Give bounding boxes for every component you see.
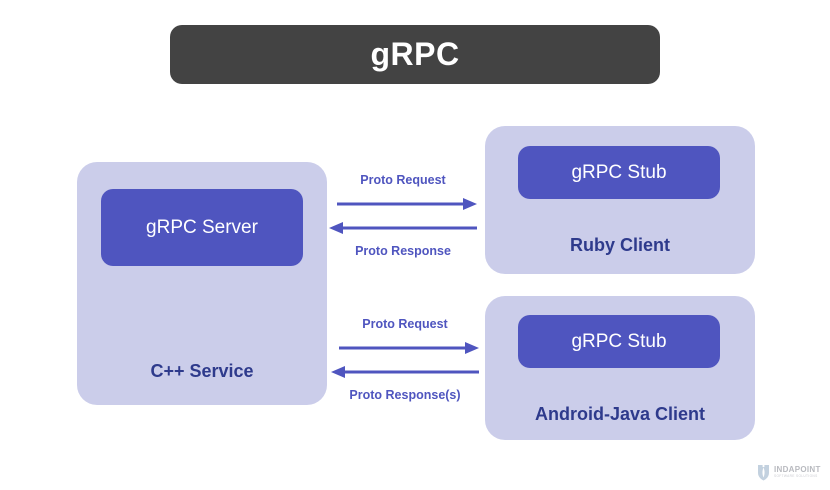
- android-client-caption: Android-Java Client: [485, 404, 755, 425]
- ruby-client-caption: Ruby Client: [485, 235, 755, 256]
- diagram-canvas: gRPC gRPC Server C++ Service gRPC Stub R…: [0, 0, 830, 490]
- android-grpc-stub-label: gRPC Stub: [571, 331, 666, 353]
- diagram-title-banner: gRPC: [170, 25, 660, 84]
- grpc-server-box: gRPC Server: [101, 189, 303, 266]
- connection-android-arrows: Proto Request Proto Response(s): [325, 316, 485, 403]
- android-arrow-pair-icon: [325, 339, 485, 381]
- ruby-arrow-pair-icon: [323, 195, 483, 237]
- android-grpc-stub-box: gRPC Stub: [518, 315, 720, 368]
- ruby-proto-request-label: Proto Request: [323, 172, 483, 188]
- android-proto-request-label: Proto Request: [325, 316, 485, 332]
- watermark: INDAPOINT SOFTWARE SOLUTIONS: [756, 461, 826, 483]
- indapoint-logo-icon: [756, 463, 771, 482]
- connection-ruby-arrows: Proto Request Proto Response: [323, 172, 483, 259]
- ruby-grpc-stub-box: gRPC Stub: [518, 146, 720, 199]
- ruby-proto-response-label: Proto Response: [323, 243, 483, 259]
- android-proto-response-label: Proto Response(s): [325, 387, 485, 403]
- watermark-textwrap: INDAPOINT SOFTWARE SOLUTIONS: [774, 465, 821, 479]
- watermark-tagline: SOFTWARE SOLUTIONS: [774, 474, 821, 479]
- diagram-title-text: gRPC: [370, 36, 459, 73]
- ruby-grpc-stub-label: gRPC Stub: [571, 162, 666, 184]
- grpc-server-label: gRPC Server: [146, 217, 258, 239]
- watermark-name: INDAPOINT: [774, 465, 821, 474]
- server-panel-caption: C++ Service: [77, 361, 327, 382]
